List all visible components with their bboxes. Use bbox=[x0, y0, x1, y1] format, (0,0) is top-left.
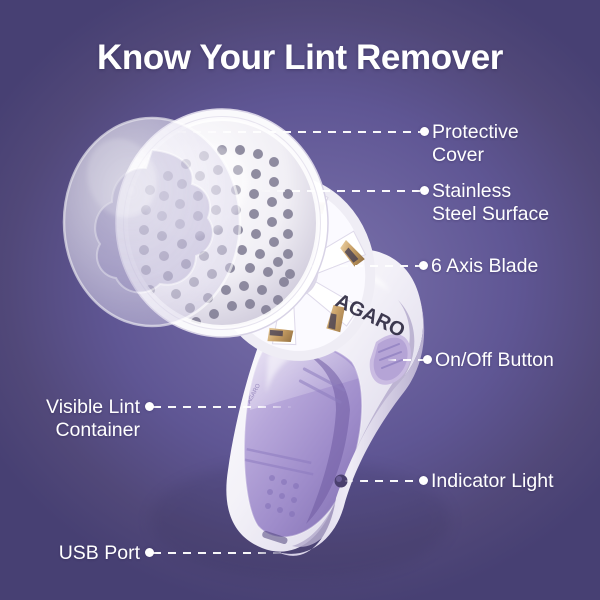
leader-line-visible-lint bbox=[153, 406, 291, 408]
callout-label-indicator-light: Indicator Light bbox=[431, 470, 554, 493]
callout-label-on-off-button: On/Off Button bbox=[435, 349, 554, 372]
leader-line-protective-cover bbox=[178, 131, 424, 133]
callout-dot-visible-lint bbox=[145, 402, 154, 411]
leader-line-on-off-button bbox=[388, 359, 428, 361]
callout-label-usb-port: USB Port bbox=[0, 542, 140, 565]
callout-label-six-axis-blade: 6 Axis Blade bbox=[431, 255, 538, 278]
callout-label-protective-cover: Protective Cover bbox=[432, 121, 519, 167]
callout-label-visible-lint: Visible Lint Container bbox=[0, 396, 140, 442]
callout-label-stainless-steel: Stainless Steel Surface bbox=[432, 180, 549, 226]
callout-dot-six-axis-blade bbox=[419, 261, 428, 270]
callout-dot-indicator-light bbox=[419, 476, 428, 485]
leader-line-usb-port bbox=[153, 552, 287, 554]
leader-line-indicator-light bbox=[345, 480, 424, 482]
page-title: Know Your Lint Remover bbox=[0, 38, 600, 78]
callout-dot-usb-port bbox=[145, 548, 154, 557]
callout-dot-protective-cover bbox=[420, 127, 429, 136]
infographic-canvas: AGARO bbox=[0, 0, 600, 600]
callout-dot-on-off-button bbox=[423, 355, 432, 364]
callout-dot-stainless-steel bbox=[420, 186, 429, 195]
product-illustration: AGARO bbox=[0, 0, 600, 600]
protective-cover bbox=[64, 118, 240, 326]
leader-line-six-axis-blade bbox=[310, 265, 424, 267]
leader-line-stainless-steel bbox=[262, 190, 424, 192]
